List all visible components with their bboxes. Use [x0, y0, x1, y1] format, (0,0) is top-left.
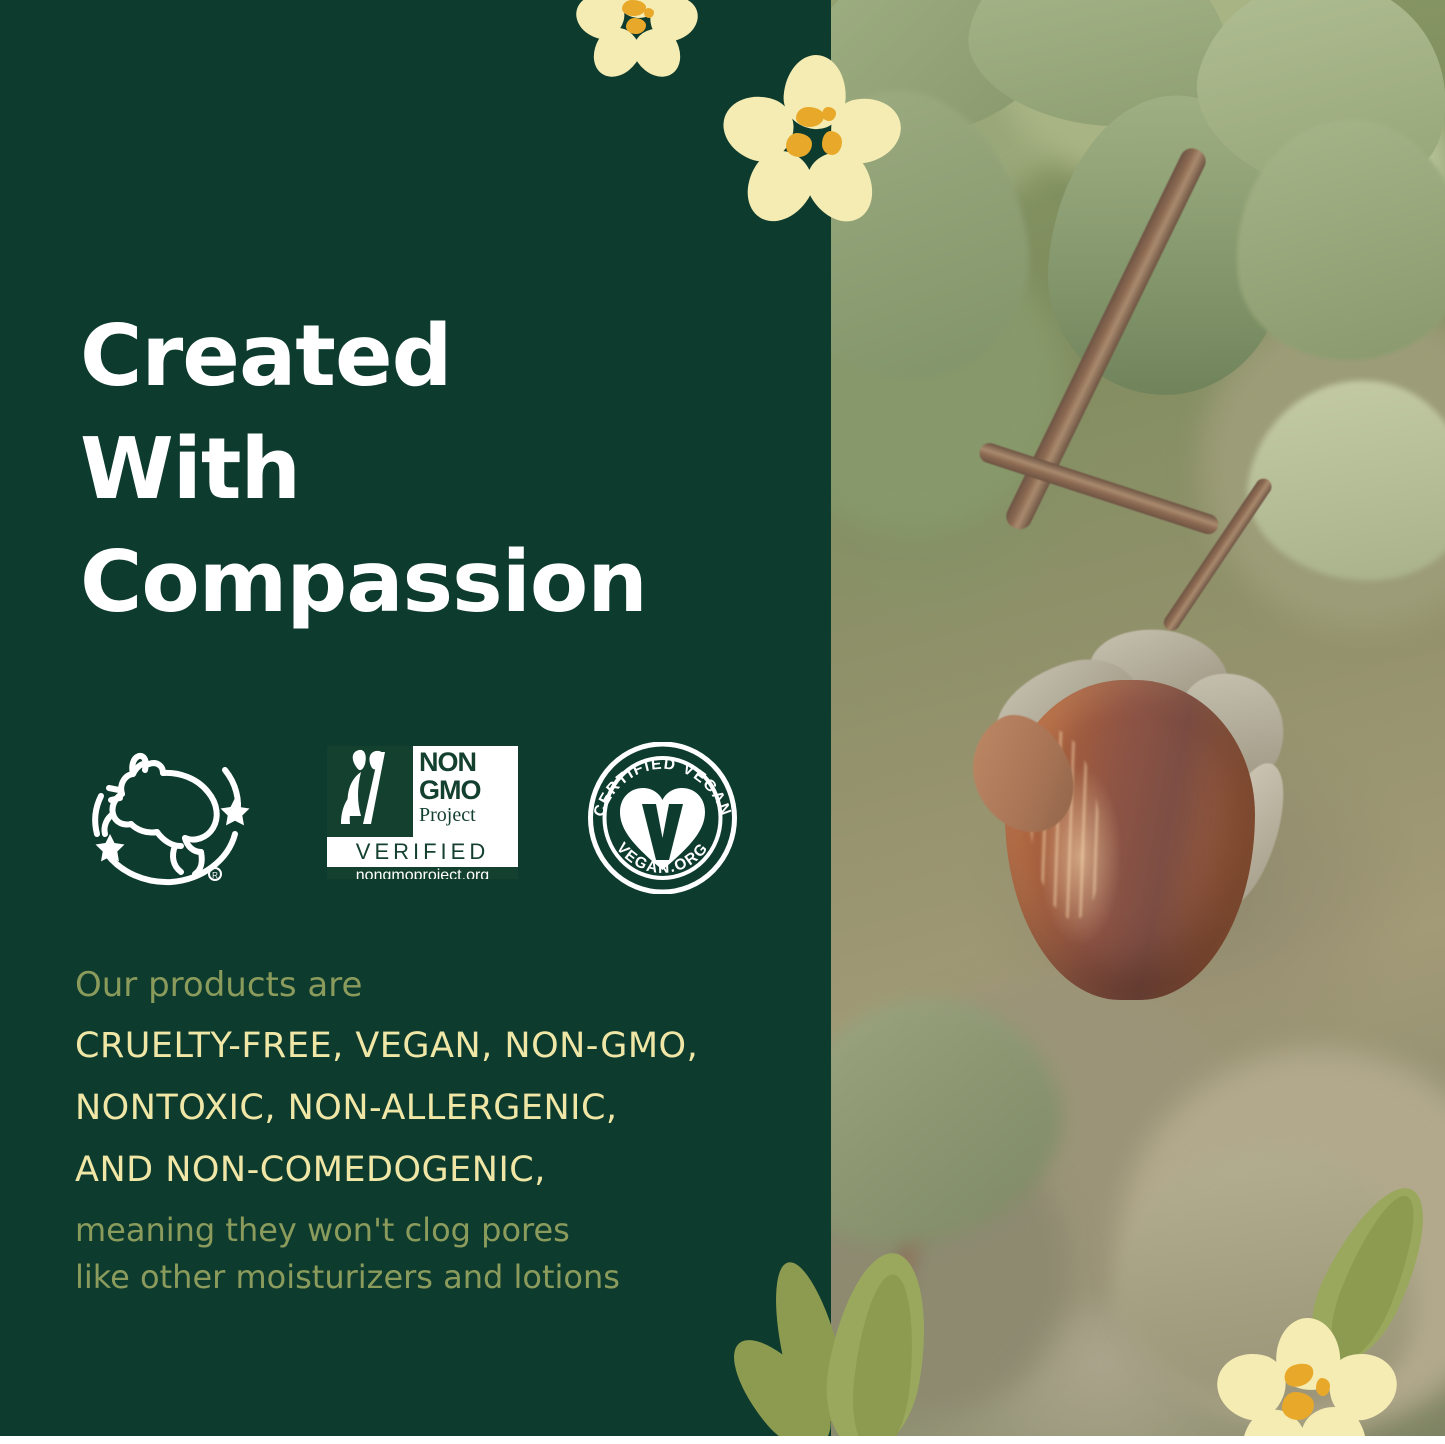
jojoba-nut [970, 620, 1300, 1020]
content-panel: Created With Compassion [0, 0, 831, 1436]
non-gmo-word-non: NON [419, 749, 513, 776]
svg-text:R: R [212, 871, 218, 880]
copy-tail-line-1: meaning they won't clog pores [75, 1207, 805, 1254]
bunny-star-right [221, 798, 250, 825]
certification-badges: R [75, 742, 775, 897]
non-gmo-butterfly-mark [327, 746, 413, 837]
non-gmo-url-text: nongmoproject.org [327, 867, 518, 883]
non-gmo-box: NON GMO Project VERIFIED nongmoproject.o… [323, 742, 522, 883]
page-title: Created With Compassion [80, 300, 800, 639]
leaping-bunny-badge: R [75, 742, 260, 892]
body-copy: Our products are CRUELTY-FREE, VEGAN, NO… [75, 955, 805, 1301]
flower-center [786, 133, 812, 157]
copy-caps-line-2: NONTOXIC, NON-ALLERGENIC, [75, 1077, 805, 1139]
promo-canvas: Created With Compassion [0, 0, 1445, 1444]
non-gmo-word-project: Project [419, 805, 513, 825]
butterfly-plant-icon [327, 746, 413, 832]
title-line-3: Compassion [80, 526, 800, 639]
flower-center [1316, 1378, 1330, 1396]
decor-flower-bottom-right [1218, 1318, 1398, 1444]
decor-flower-top-right [726, 55, 901, 230]
decor-leaf-cluster-left [760, 1240, 1020, 1444]
title-line-1: Created [80, 300, 800, 413]
non-gmo-top-row: NON GMO Project [327, 746, 518, 837]
copy-tail-line-2: like other moisturizers and lotions [75, 1254, 805, 1301]
non-gmo-badge: NON GMO Project VERIFIED nongmoproject.o… [323, 742, 533, 890]
bottom-edge-strip [0, 1436, 1445, 1444]
copy-caps-line-1: CRUELTY-FREE, VEGAN, NON-GMO, [75, 1015, 805, 1077]
decor-flower-top-left [578, 0, 696, 84]
leaping-bunny-icon: R [75, 742, 260, 892]
non-gmo-wordmark: NON GMO Project [413, 746, 518, 837]
copy-lead: Our products are [75, 955, 805, 1015]
copy-caps-line-3: AND NON-COMEDOGENIC, [75, 1139, 805, 1201]
non-gmo-word-gmo: GMO [419, 777, 513, 804]
title-line-2: With [80, 413, 800, 526]
certified-vegan-icon: CERTIFIED VEGAN VEGAN.ORG [580, 742, 745, 894]
certified-vegan-badge: CERTIFIED VEGAN VEGAN.ORG [580, 742, 745, 894]
non-gmo-verified-text: VERIFIED [327, 837, 518, 867]
